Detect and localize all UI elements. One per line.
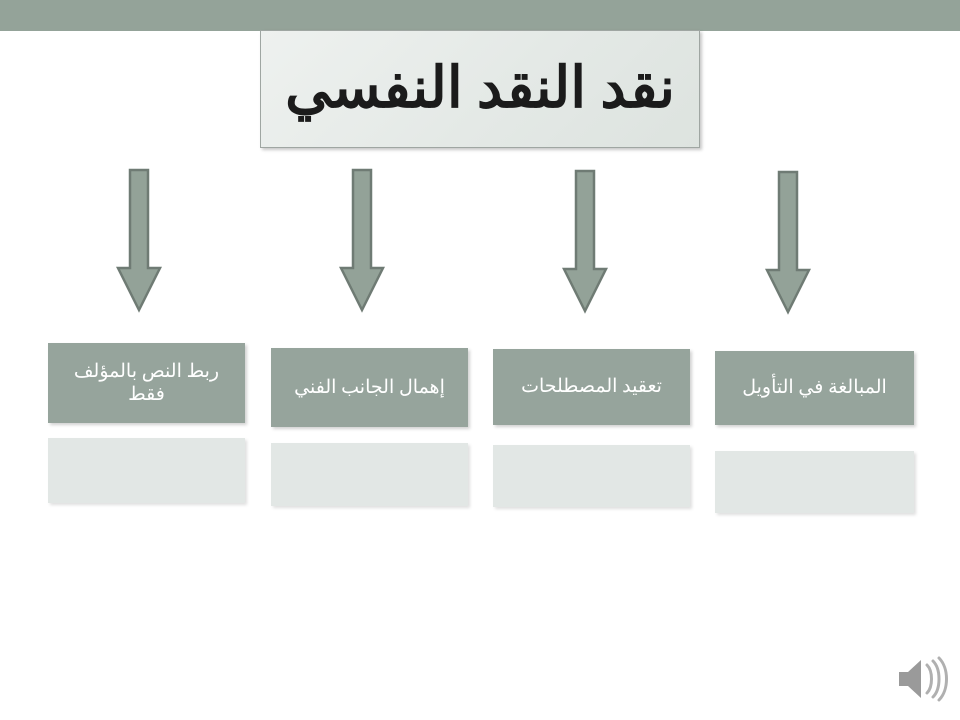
down-arrow-4 [765, 170, 811, 315]
placeholder-box-3 [493, 445, 690, 507]
down-arrow-3 [562, 169, 608, 314]
presentation-slide: نقد النقد النفسي ربط النص بالمؤلف فقط إه… [0, 0, 960, 720]
concept-box-3-label: تعقيد المصطلحات [513, 375, 670, 398]
placeholder-box-2 [271, 443, 468, 506]
slide-title-box: نقد النقد النفسي [260, 30, 700, 148]
concept-box-1: ربط النص بالمؤلف فقط [48, 343, 245, 423]
top-accent-band [0, 0, 960, 31]
down-arrow-1 [116, 168, 162, 313]
placeholder-box-4 [715, 451, 914, 513]
concept-box-4-label: المبالغة في التأويل [734, 376, 895, 399]
slide-title-text: نقد النقد النفسي [275, 58, 685, 120]
concept-box-2: إهمال الجانب الفني [271, 348, 468, 427]
concept-box-3: تعقيد المصطلحات [493, 349, 690, 425]
concept-box-4: المبالغة في التأويل [715, 351, 914, 425]
concept-box-1-label: ربط النص بالمؤلف فقط [48, 360, 245, 406]
speaker-volume-icon[interactable] [893, 652, 951, 706]
down-arrow-2 [339, 168, 385, 313]
placeholder-box-1 [48, 438, 245, 503]
concept-box-2-label: إهمال الجانب الفني [286, 376, 453, 399]
